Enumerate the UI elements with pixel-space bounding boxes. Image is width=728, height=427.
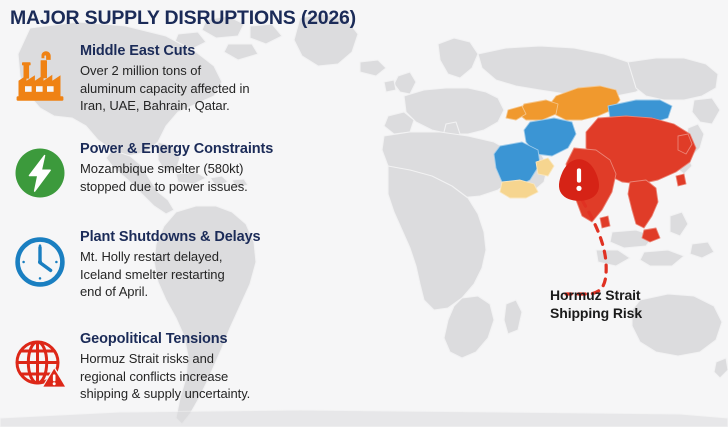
clock-icon <box>11 233 69 291</box>
list-item-text: Geopolitical Tensions Hormuz Strait risk… <box>80 330 332 403</box>
list-item-text: Plant Shutdowns & Delays Mt. Holly resta… <box>80 228 332 301</box>
infographic-root: MAJOR SUPPLY DISRUPTIONS (2026) <box>0 0 728 427</box>
list-item-text: Power & Energy Constraints Mozambique sm… <box>80 140 332 195</box>
body-line: Hormuz Strait risks and <box>80 350 332 368</box>
list-item-body: Mozambique smelter (580kt) stopped due t… <box>80 160 332 195</box>
body-line: shipping & supply uncertainty. <box>80 385 332 403</box>
body-line: end of April. <box>80 283 332 301</box>
body-line: Iran, UAE, Bahrain, Qatar. <box>80 97 332 115</box>
callout-line-2: Shipping Risk <box>550 304 710 322</box>
list-item-body: Mt. Holly restart delayed, Iceland smelt… <box>80 248 332 301</box>
body-line: Mt. Holly restart delayed, <box>80 248 332 266</box>
body-line: regional conflicts increase <box>80 368 332 386</box>
body-line: aluminum capacity affected in <box>80 80 332 98</box>
globe-warning-icon <box>11 335 69 393</box>
body-line: Iceland smelter restarting <box>80 266 332 284</box>
region-sri-lanka <box>600 216 610 228</box>
list-item-heading: Middle East Cuts <box>80 42 332 61</box>
body-line: Mozambique smelter (580kt) <box>80 160 332 178</box>
factory-icon <box>11 49 69 107</box>
list-item-heading: Plant Shutdowns & Delays <box>80 228 332 247</box>
list-item-body: Hormuz Strait risks and regional conflic… <box>80 350 332 403</box>
page-title: MAJOR SUPPLY DISRUPTIONS (2026) <box>10 7 356 30</box>
lightning-bolt-icon <box>11 144 69 202</box>
list-item-body: Over 2 million tons of aluminum capacity… <box>80 62 332 115</box>
callout-line-1: Hormuz Strait <box>550 286 710 304</box>
list-item-text: Middle East Cuts Over 2 million tons of … <box>80 42 332 115</box>
map-callout-label: Hormuz Strait Shipping Risk <box>550 286 710 322</box>
list-item-heading: Geopolitical Tensions <box>80 330 332 349</box>
warning-triangle-marker-icon <box>556 157 602 203</box>
region-taiwan <box>676 174 686 186</box>
list-item-heading: Power & Energy Constraints <box>80 140 332 159</box>
body-line: Over 2 million tons of <box>80 62 332 80</box>
body-line: stopped due to power issues. <box>80 178 332 196</box>
